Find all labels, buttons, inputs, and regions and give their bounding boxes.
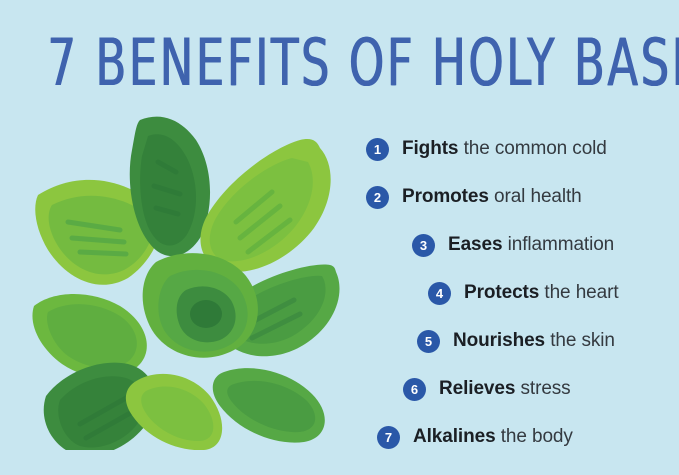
benefit-rest-2: oral health bbox=[489, 186, 582, 207]
benefit-text-2: Promotes oral health bbox=[402, 186, 582, 208]
benefit-number-badge-6: 6 bbox=[403, 378, 426, 401]
benefit-text-5: Nourishes the skin bbox=[453, 330, 615, 352]
benefits-list: 1 Fights the common cold 2 Promotes oral… bbox=[0, 126, 679, 456]
benefit-item-4: 4 Protects the heart bbox=[428, 278, 619, 308]
benefit-item-5: 5 Nourishes the skin bbox=[417, 326, 615, 356]
benefit-item-1: 1 Fights the common cold bbox=[366, 134, 607, 164]
benefit-text-4: Protects the heart bbox=[464, 282, 619, 304]
benefit-text-3: Eases inflammation bbox=[448, 234, 614, 256]
benefit-lead-2: Promotes bbox=[402, 186, 489, 207]
benefit-number-badge-1: 1 bbox=[366, 138, 389, 161]
benefit-lead-4: Protects bbox=[464, 282, 539, 303]
benefit-text-6: Relieves stress bbox=[439, 378, 571, 400]
benefit-number-badge-3: 3 bbox=[412, 234, 435, 257]
benefit-rest-3: inflammation bbox=[502, 234, 614, 255]
benefit-item-7: 7 Alkalines the body bbox=[377, 422, 573, 452]
benefit-lead-6: Relieves bbox=[439, 378, 515, 399]
benefit-text-7: Alkalines the body bbox=[413, 426, 573, 448]
benefit-rest-5: the skin bbox=[545, 330, 615, 351]
benefit-number-badge-5: 5 bbox=[417, 330, 440, 353]
benefit-rest-6: stress bbox=[515, 378, 570, 399]
page-title: 7 BENEFITS OF HOLY BASIL bbox=[48, 28, 632, 97]
benefit-lead-3: Eases bbox=[448, 234, 502, 255]
benefit-lead-1: Fights bbox=[402, 138, 458, 159]
benefit-item-2: 2 Promotes oral health bbox=[366, 182, 582, 212]
benefit-rest-1: the common cold bbox=[458, 138, 606, 159]
benefit-text-1: Fights the common cold bbox=[402, 138, 607, 160]
benefit-rest-4: the heart bbox=[539, 282, 618, 303]
benefit-item-3: 3 Eases inflammation bbox=[412, 230, 614, 260]
benefit-number-badge-4: 4 bbox=[428, 282, 451, 305]
poster-canvas: 7 BENEFITS OF HOLY BASIL bbox=[0, 0, 679, 475]
benefit-rest-7: the body bbox=[496, 426, 573, 447]
benefit-lead-5: Nourishes bbox=[453, 330, 545, 351]
benefit-number-badge-2: 2 bbox=[366, 186, 389, 209]
benefit-lead-7: Alkalines bbox=[413, 426, 496, 447]
benefit-item-6: 6 Relieves stress bbox=[403, 374, 571, 404]
benefit-number-badge-7: 7 bbox=[377, 426, 400, 449]
